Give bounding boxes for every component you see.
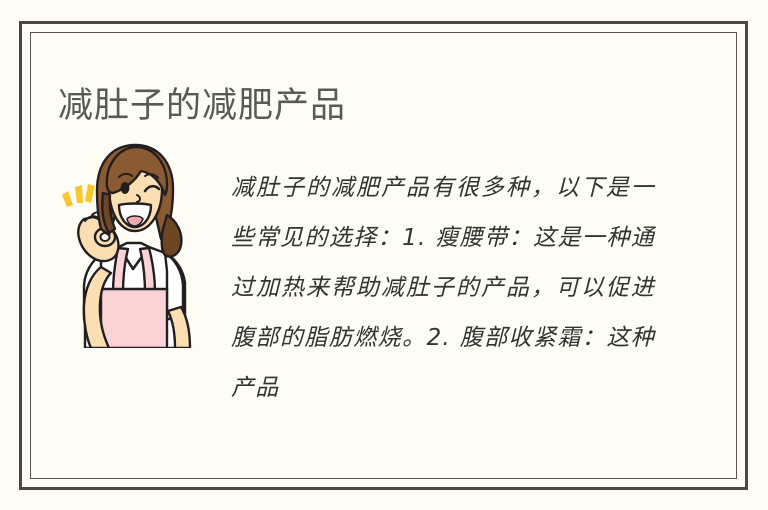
page-title: 减肚子的减肥产品 (58, 84, 346, 128)
sparkle-icon (62, 184, 95, 207)
article-body-text: 减肚子的减肥产品有很多种，以下是一些常见的选择：1. 瘦腰带：这是一种通过加热来… (231, 163, 655, 413)
open-eye (121, 182, 130, 194)
smiling-woman-ok-gesture-icon (57, 143, 207, 348)
illustration-container (57, 143, 207, 348)
page-root: 减肚子的减肥产品 (0, 0, 768, 510)
